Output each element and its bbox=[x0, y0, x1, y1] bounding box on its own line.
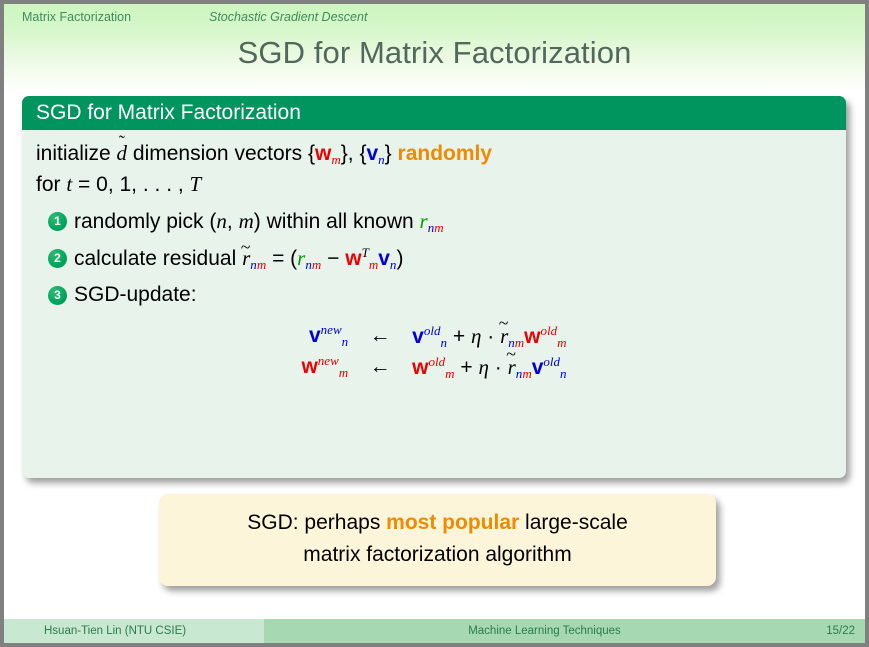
for-keyword: for bbox=[36, 173, 61, 196]
algorithm-block-header: SGD for Matrix Factorization bbox=[22, 96, 846, 130]
step2-minus: − bbox=[327, 247, 339, 270]
v-vector-symbol: v bbox=[532, 356, 544, 379]
w-vector-symbol: w bbox=[301, 355, 317, 378]
list-item: 1 randomly pick (n, m) within all known … bbox=[36, 206, 832, 237]
for-values: 0, 1, . . . , bbox=[96, 173, 184, 196]
v-vector-symbol: v bbox=[309, 324, 321, 347]
equation-2-dot: · bbox=[495, 356, 502, 379]
for-equals: = bbox=[78, 173, 90, 196]
step-number-badge: 2 bbox=[48, 249, 67, 268]
slide-banner: Matrix Factorization Stochastic Gradient… bbox=[4, 4, 865, 92]
eta-symbol: η bbox=[471, 324, 481, 348]
step2-paren-close: ) bbox=[396, 247, 403, 270]
w-vector-subscript: m bbox=[369, 257, 378, 272]
breadcrumb-subsection[interactable]: Stochastic Gradient Descent bbox=[209, 10, 367, 24]
equation-2-arrow: ← bbox=[348, 355, 412, 380]
for-variable: t bbox=[66, 172, 72, 196]
summary-callout: SGD: perhaps most popular large-scale ma… bbox=[159, 494, 716, 586]
callout-line-1: SGD: perhaps most popular large-scale bbox=[169, 507, 706, 539]
equation-1-arrow: ← bbox=[348, 324, 412, 349]
step1-pair-close: ) bbox=[254, 210, 261, 233]
algorithm-block-title: SGD for Matrix Factorization bbox=[36, 101, 301, 125]
w-vector-symbol: w bbox=[315, 142, 331, 165]
equation-1-lhs: vnewn bbox=[301, 324, 348, 349]
callout-line-2: matrix factorization algorithm bbox=[169, 539, 706, 571]
dimension-symbol: ˜d bbox=[117, 138, 128, 169]
step1-index-n: n bbox=[216, 209, 227, 233]
slide-footer: Hsuan-Tien Lin (NTU CSIE) Machine Learni… bbox=[4, 619, 865, 643]
equation-2-plus: + bbox=[460, 356, 472, 379]
w-old-superscript: old bbox=[541, 323, 558, 338]
list-item: 2 calculate residual ~rnm = (rnm − wTmvn… bbox=[36, 243, 832, 274]
list-item: 3 SGD-update: bbox=[36, 280, 832, 310]
step-number-badge: 3 bbox=[48, 286, 67, 305]
algorithm-steps: 1 randomly pick (n, m) within all known … bbox=[36, 206, 832, 310]
footer-course: Machine Learning Techniques bbox=[264, 619, 825, 643]
v-old-superscript: old bbox=[543, 354, 560, 369]
v-vector-subscript: n bbox=[560, 366, 567, 381]
residual-symbol: ~r bbox=[508, 355, 516, 380]
footer-page-number: 15/22 bbox=[826, 619, 855, 643]
initialize-pre: initialize bbox=[36, 142, 111, 165]
w-vector-subscript: m bbox=[331, 152, 340, 167]
set-open-brace: { bbox=[308, 142, 315, 165]
step1-pre: randomly pick bbox=[74, 210, 204, 233]
v-vector-symbol: v bbox=[412, 325, 424, 348]
v-vector-symbol: v bbox=[378, 247, 390, 270]
equation-1-dot: · bbox=[487, 325, 494, 348]
step1-pair-comma: , bbox=[227, 210, 233, 233]
step1-mid: within all known bbox=[267, 210, 414, 233]
w-vector-symbol: w bbox=[524, 325, 540, 348]
step2-equals: = bbox=[272, 247, 284, 270]
set-close-brace: }, bbox=[341, 142, 354, 165]
equation-1-rhs: voldn + η · ~rnmwoldm bbox=[412, 324, 566, 349]
footer-author: Hsuan-Tien Lin (NTU CSIE) bbox=[4, 619, 264, 643]
update-equations: vnewn ← voldn + η · ~rnmwoldm wnewm ← wo… bbox=[36, 324, 832, 380]
w-vector-subscript: m bbox=[557, 335, 566, 350]
breadcrumb: Matrix Factorization Stochastic Gradient… bbox=[4, 10, 865, 30]
initialize-mid: dimension vectors bbox=[133, 142, 302, 165]
residual-subscript-m: m bbox=[522, 366, 531, 381]
step-number-badge: 1 bbox=[48, 212, 67, 231]
w-new-superscript: new bbox=[318, 353, 339, 368]
w-old-superscript: old bbox=[429, 354, 446, 369]
randomly-emphasis: randomly bbox=[398, 142, 493, 165]
equation-2-lhs: wnewm bbox=[301, 355, 348, 380]
w-vector-subscript: m bbox=[445, 366, 454, 381]
step3-label: SGD-update: bbox=[74, 283, 197, 306]
page-title: SGD for Matrix Factorization bbox=[4, 35, 865, 71]
equation-1-plus: + bbox=[453, 325, 465, 348]
equation-2-rhs: woldm + η · ~rnmvoldn bbox=[412, 355, 566, 380]
w-vector-symbol: w bbox=[412, 356, 428, 379]
callout-line1-post: large-scale bbox=[525, 511, 628, 534]
callout-line1-pre: SGD: perhaps bbox=[247, 511, 380, 534]
step2-pre: calculate residual bbox=[74, 247, 236, 270]
slide: Matrix Factorization Stochastic Gradient… bbox=[4, 4, 865, 643]
eta-symbol: η bbox=[479, 355, 489, 379]
w-vector-subscript: m bbox=[339, 365, 348, 380]
rating-subscript-m: m bbox=[434, 220, 443, 235]
step1-index-m: m bbox=[239, 209, 254, 233]
v-old-superscript: old bbox=[424, 323, 441, 338]
algorithm-block-body: initialize ˜d dimension vectors {wm}, {v… bbox=[22, 130, 846, 380]
w-vector-symbol: w bbox=[345, 247, 361, 270]
residual-symbol: ~r bbox=[242, 243, 250, 273]
for-limit: T bbox=[190, 172, 202, 196]
rating-symbol: r bbox=[420, 209, 428, 233]
callout-emphasis: most popular bbox=[386, 511, 519, 534]
set-close-brace-2: } bbox=[385, 142, 392, 165]
v-new-superscript: new bbox=[321, 322, 342, 337]
residual-subscript-m: m bbox=[257, 257, 266, 272]
algorithm-block: SGD for Matrix Factorization initialize … bbox=[22, 96, 846, 478]
rating-subscript-m: m bbox=[312, 257, 321, 272]
for-loop-line: for t = 0, 1, . . . , T bbox=[36, 169, 832, 200]
w-transpose-superscript: T bbox=[362, 245, 369, 260]
breadcrumb-section[interactable]: Matrix Factorization bbox=[22, 10, 131, 24]
initialize-line: initialize ˜d dimension vectors {wm}, {v… bbox=[36, 138, 832, 169]
v-vector-symbol: v bbox=[366, 142, 378, 165]
v-vector-subscript: n bbox=[440, 335, 447, 350]
